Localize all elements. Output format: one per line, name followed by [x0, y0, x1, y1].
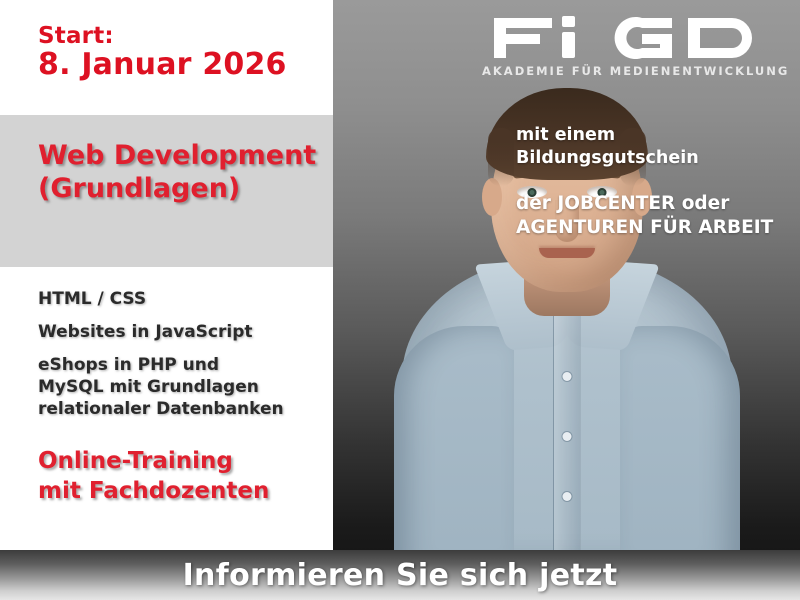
- mouth: [539, 248, 595, 258]
- brand-tagline: AKADEMIE FÜR MEDIENENTWICKLUNG: [482, 64, 782, 78]
- online-training-block: Online-Training mit Fachdozenten: [38, 447, 333, 507]
- online-training-line2: mit Fachdozenten: [38, 477, 333, 507]
- funding-line2: Bildungsgutschein: [516, 147, 800, 170]
- shirt-button: [562, 492, 571, 501]
- curriculum-item: Websites in JavaScript: [38, 321, 333, 343]
- funding-line4: AGENTUREN FÜR ARBEIT: [516, 216, 800, 240]
- curriculum-item-3-line1: eShops in PHP und: [38, 354, 333, 376]
- start-date-value: 8. Januar 2026: [38, 48, 328, 82]
- curriculum-item-1: HTML / CSS: [38, 288, 333, 310]
- shoulder-right: [620, 326, 740, 570]
- figd-logo-icon: [492, 14, 782, 60]
- funding-block-voucher: mit einem Bildungsgutschein: [516, 124, 800, 170]
- cta-banner-text: Informieren Sie sich jetzt: [183, 558, 618, 593]
- shoulder-left: [394, 326, 514, 570]
- brand-logo: AKADEMIE FÜR MEDIENENTWICKLUNG: [482, 14, 782, 78]
- funding-line3: der JOBCENTER oder: [516, 192, 800, 216]
- curriculum-list: HTML / CSS Websites in JavaScript eShops…: [38, 288, 333, 420]
- funding-info: mit einem Bildungsgutschein der JOBCENTE…: [516, 124, 800, 240]
- start-date-block: Start: 8. Januar 2026: [38, 24, 328, 82]
- course-title-line2: (Grundlagen): [38, 173, 333, 206]
- instructor-photo: [333, 0, 800, 570]
- curriculum-item: HTML / CSS: [38, 288, 333, 310]
- shirt-button: [562, 372, 571, 381]
- funding-line1: mit einem: [516, 124, 800, 147]
- curriculum-item: eShops in PHP und MySQL mit Grundlagen r…: [38, 354, 333, 420]
- funding-block-agency: der JOBCENTER oder AGENTUREN FÜR ARBEIT: [516, 192, 800, 240]
- online-training-line1: Online-Training: [38, 447, 333, 477]
- curriculum-item-2: Websites in JavaScript: [38, 321, 333, 343]
- course-title-line1: Web Development: [38, 140, 333, 173]
- shirt-placket: [553, 314, 581, 570]
- course-title: Web Development (Grundlagen): [38, 140, 333, 206]
- curriculum-item-3-line3: relationaler Datenbanken: [38, 398, 333, 420]
- start-label: Start:: [38, 24, 328, 48]
- promo-poster: Start: 8. Januar 2026 Web Development (G…: [0, 0, 800, 600]
- cta-banner[interactable]: Informieren Sie sich jetzt: [0, 550, 800, 600]
- curriculum-item-3-line2: MySQL mit Grundlagen: [38, 376, 333, 398]
- shirt-button: [562, 432, 571, 441]
